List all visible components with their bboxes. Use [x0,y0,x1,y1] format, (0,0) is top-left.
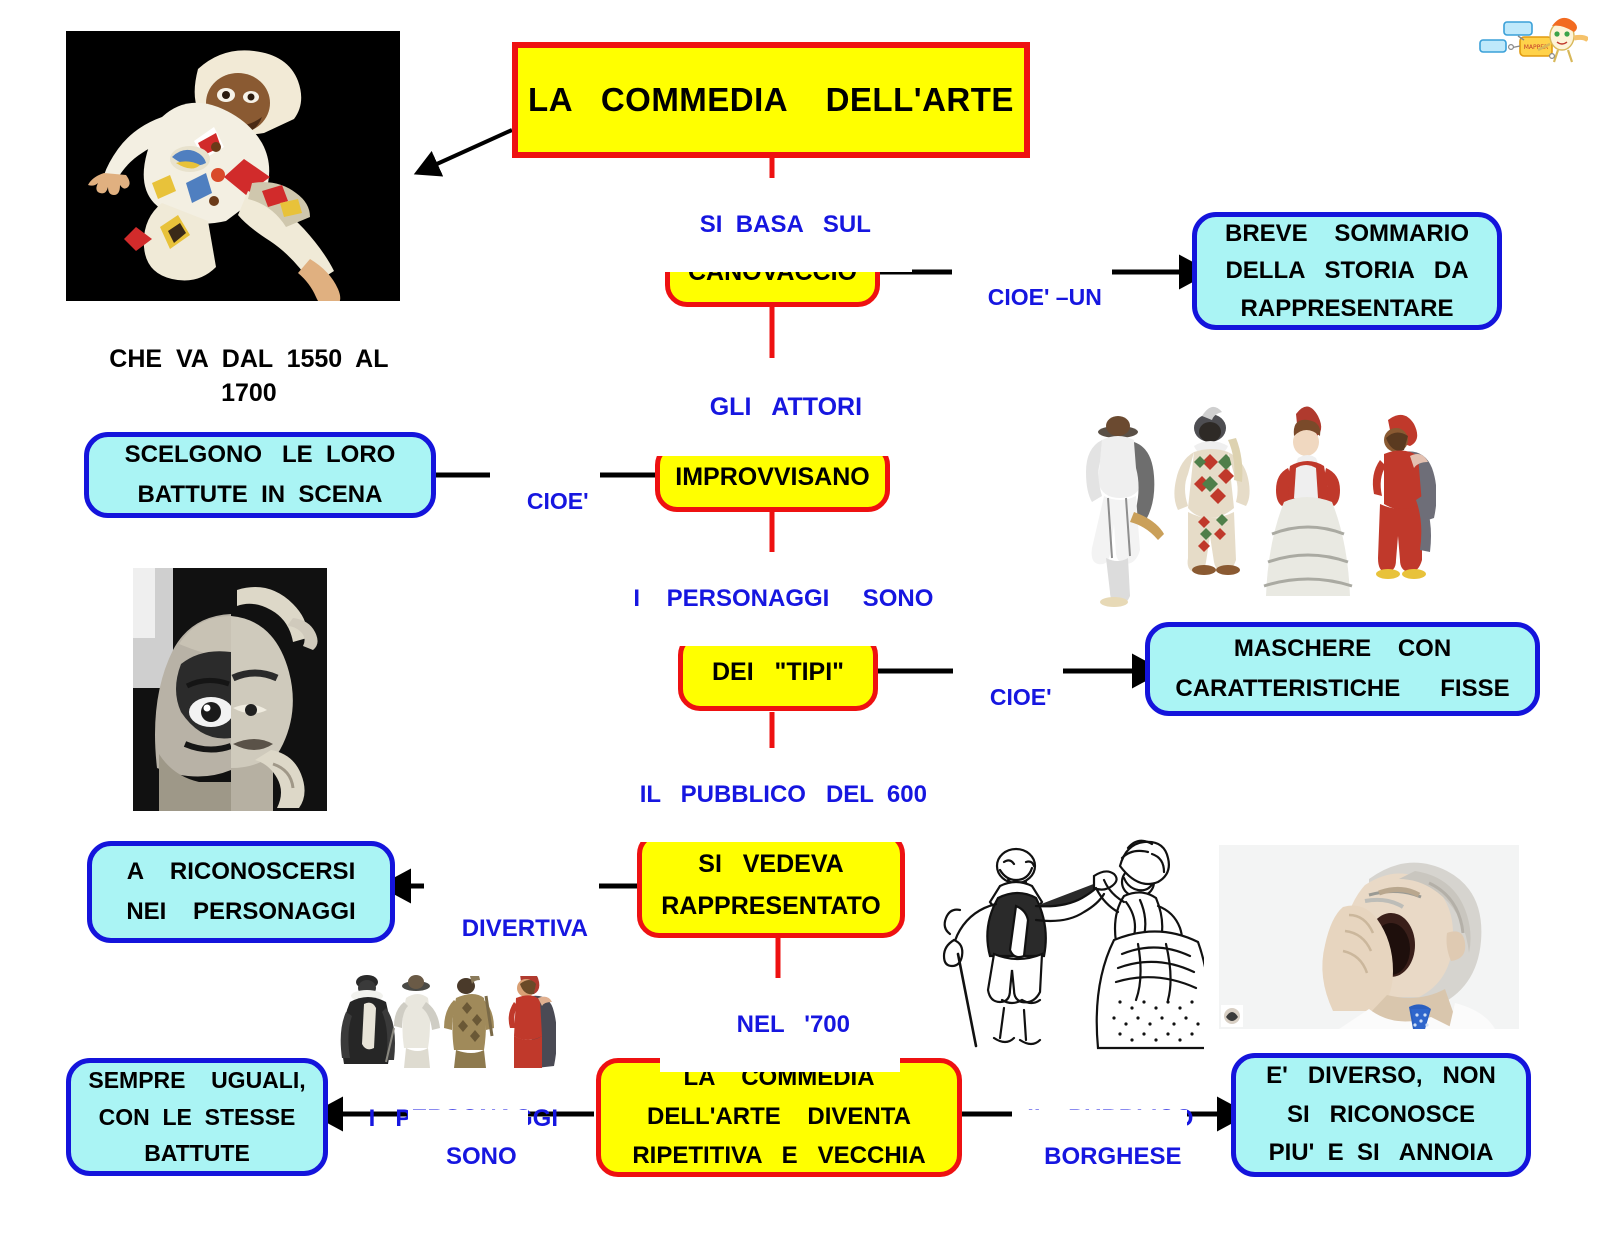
node-diverso[interactable]: E' DIVERSO, NON SI RICONOSCE PIU' E SI A… [1231,1053,1531,1177]
node-sempre-uguali-line-1: SEMPRE UGUALI, [88,1062,305,1099]
node-maschere[interactable]: MASCHERE CON CARATTERISTICHE FISSE [1145,622,1540,716]
connector-label-il-pubblico-del-600: IL PUBBLICO DEL 600 [570,748,970,842]
node-root[interactable]: LA COMMEDIA DELL'ARTE [512,42,1030,158]
connector-label-nel-700: NEL '700 [660,978,900,1072]
node-ripetitiva[interactable]: LA COMMEDIA DELL'ARTE DIVENTA RIPETITIVA… [596,1058,962,1177]
connector-label-gli-attori: GLI ATTORI [642,358,902,456]
node-sempre-uguali-line-3: BATTUTE [144,1135,250,1172]
node-scelgono[interactable]: SCELGONO LE LORO BATTUTE IN SCENA [84,432,436,518]
node-riconoscersi-line-2: NEI PERSONAGGI [126,892,355,932]
node-riconoscersi-line-1: A RICONOSCERSI [127,852,355,892]
node-maschere-line-1: MASCHERE CON [1234,629,1451,669]
node-sempre-uguali-line-2: CON LE STESSE [99,1099,296,1136]
node-diverso-line-1: E' DIVERSO, NON [1266,1057,1496,1095]
caption-line-2: 1700 [221,379,277,407]
node-root-label: LA COMMEDIA DELL'ARTE [528,81,1014,119]
connector-label-divertiva: DIVERTIVA [424,882,599,976]
node-sommario-line-1: BREVE SOMMARIO [1225,215,1469,252]
yawning-man-image [1219,845,1519,1029]
connector-label-si-basa-sul: SI BASA SUL [632,178,912,272]
dancing-couple-image [908,836,1204,1050]
node-rappresentato-line-2: RAPPRESENTATO [661,885,880,928]
node-diverso-line-3: PIU' E SI ANNOIA [1269,1134,1494,1172]
connector-label-cioe-2: CIOE' [953,653,1063,743]
node-improvvisano-label: IMPROVVISANO [675,463,869,492]
four-figures-small-image [334,968,556,1068]
node-maschere-line-2: CARATTERISTICHE FISSE [1175,669,1509,709]
node-rappresentato-line-1: SI VEDEVA [698,843,843,886]
node-riconoscersi[interactable]: A RICONOSCERSI NEI PERSONAGGI [87,841,395,943]
connector-label-cioe-1: CIOE' [490,457,600,547]
node-sempre-uguali[interactable]: SEMPRE UGUALI, CON LE STESSE BATTUTE [66,1058,328,1176]
split-face-image [133,568,327,811]
node-diverso-line-2: SI RICONOSCE [1287,1096,1475,1134]
four-characters-image [1058,392,1436,622]
node-tipi-label: DEI "TIPI" [712,658,844,687]
connector-label-cioe-un: CIOE' –UN [952,253,1112,343]
pulcinella-caption: CHE VA DAL 1550 AL 1700 [40,307,430,445]
connector-label-sono: SONO [408,1110,528,1204]
node-sommario-line-3: RAPPRESENTARE [1241,290,1454,327]
pulcinella-image [66,31,400,301]
caption-line-1: CHE VA DAL 1550 AL [109,345,388,373]
node-ripetitiva-line-2: DELL'ARTE DIVENTA [647,1098,911,1137]
connector-label-borghese: BORGHESE [1012,1110,1187,1204]
node-scelgono-line-2: BATTUTE IN SCENA [138,475,383,515]
connector-label-i-personaggi-sono: I PERSONAGGI SONO [570,552,970,646]
node-rappresentato[interactable]: SI VEDEVA RAPPRESENTATO [637,832,905,938]
node-scelgono-line-1: SCELGONO LE LORO [125,435,396,475]
mindmap-canvas: CHE VA DAL 1550 AL 1700 [0,0,1600,1244]
mindmap-mascot-logo: MAPPER [1478,6,1588,68]
node-sommario[interactable]: BREVE SOMMARIO DELLA STORIA DA RAPPRESEN… [1192,212,1502,330]
node-sommario-line-2: DELLA STORIA DA [1225,252,1468,289]
node-ripetitiva-line-3: RIPETITIVA E VECCHIA [632,1137,925,1176]
